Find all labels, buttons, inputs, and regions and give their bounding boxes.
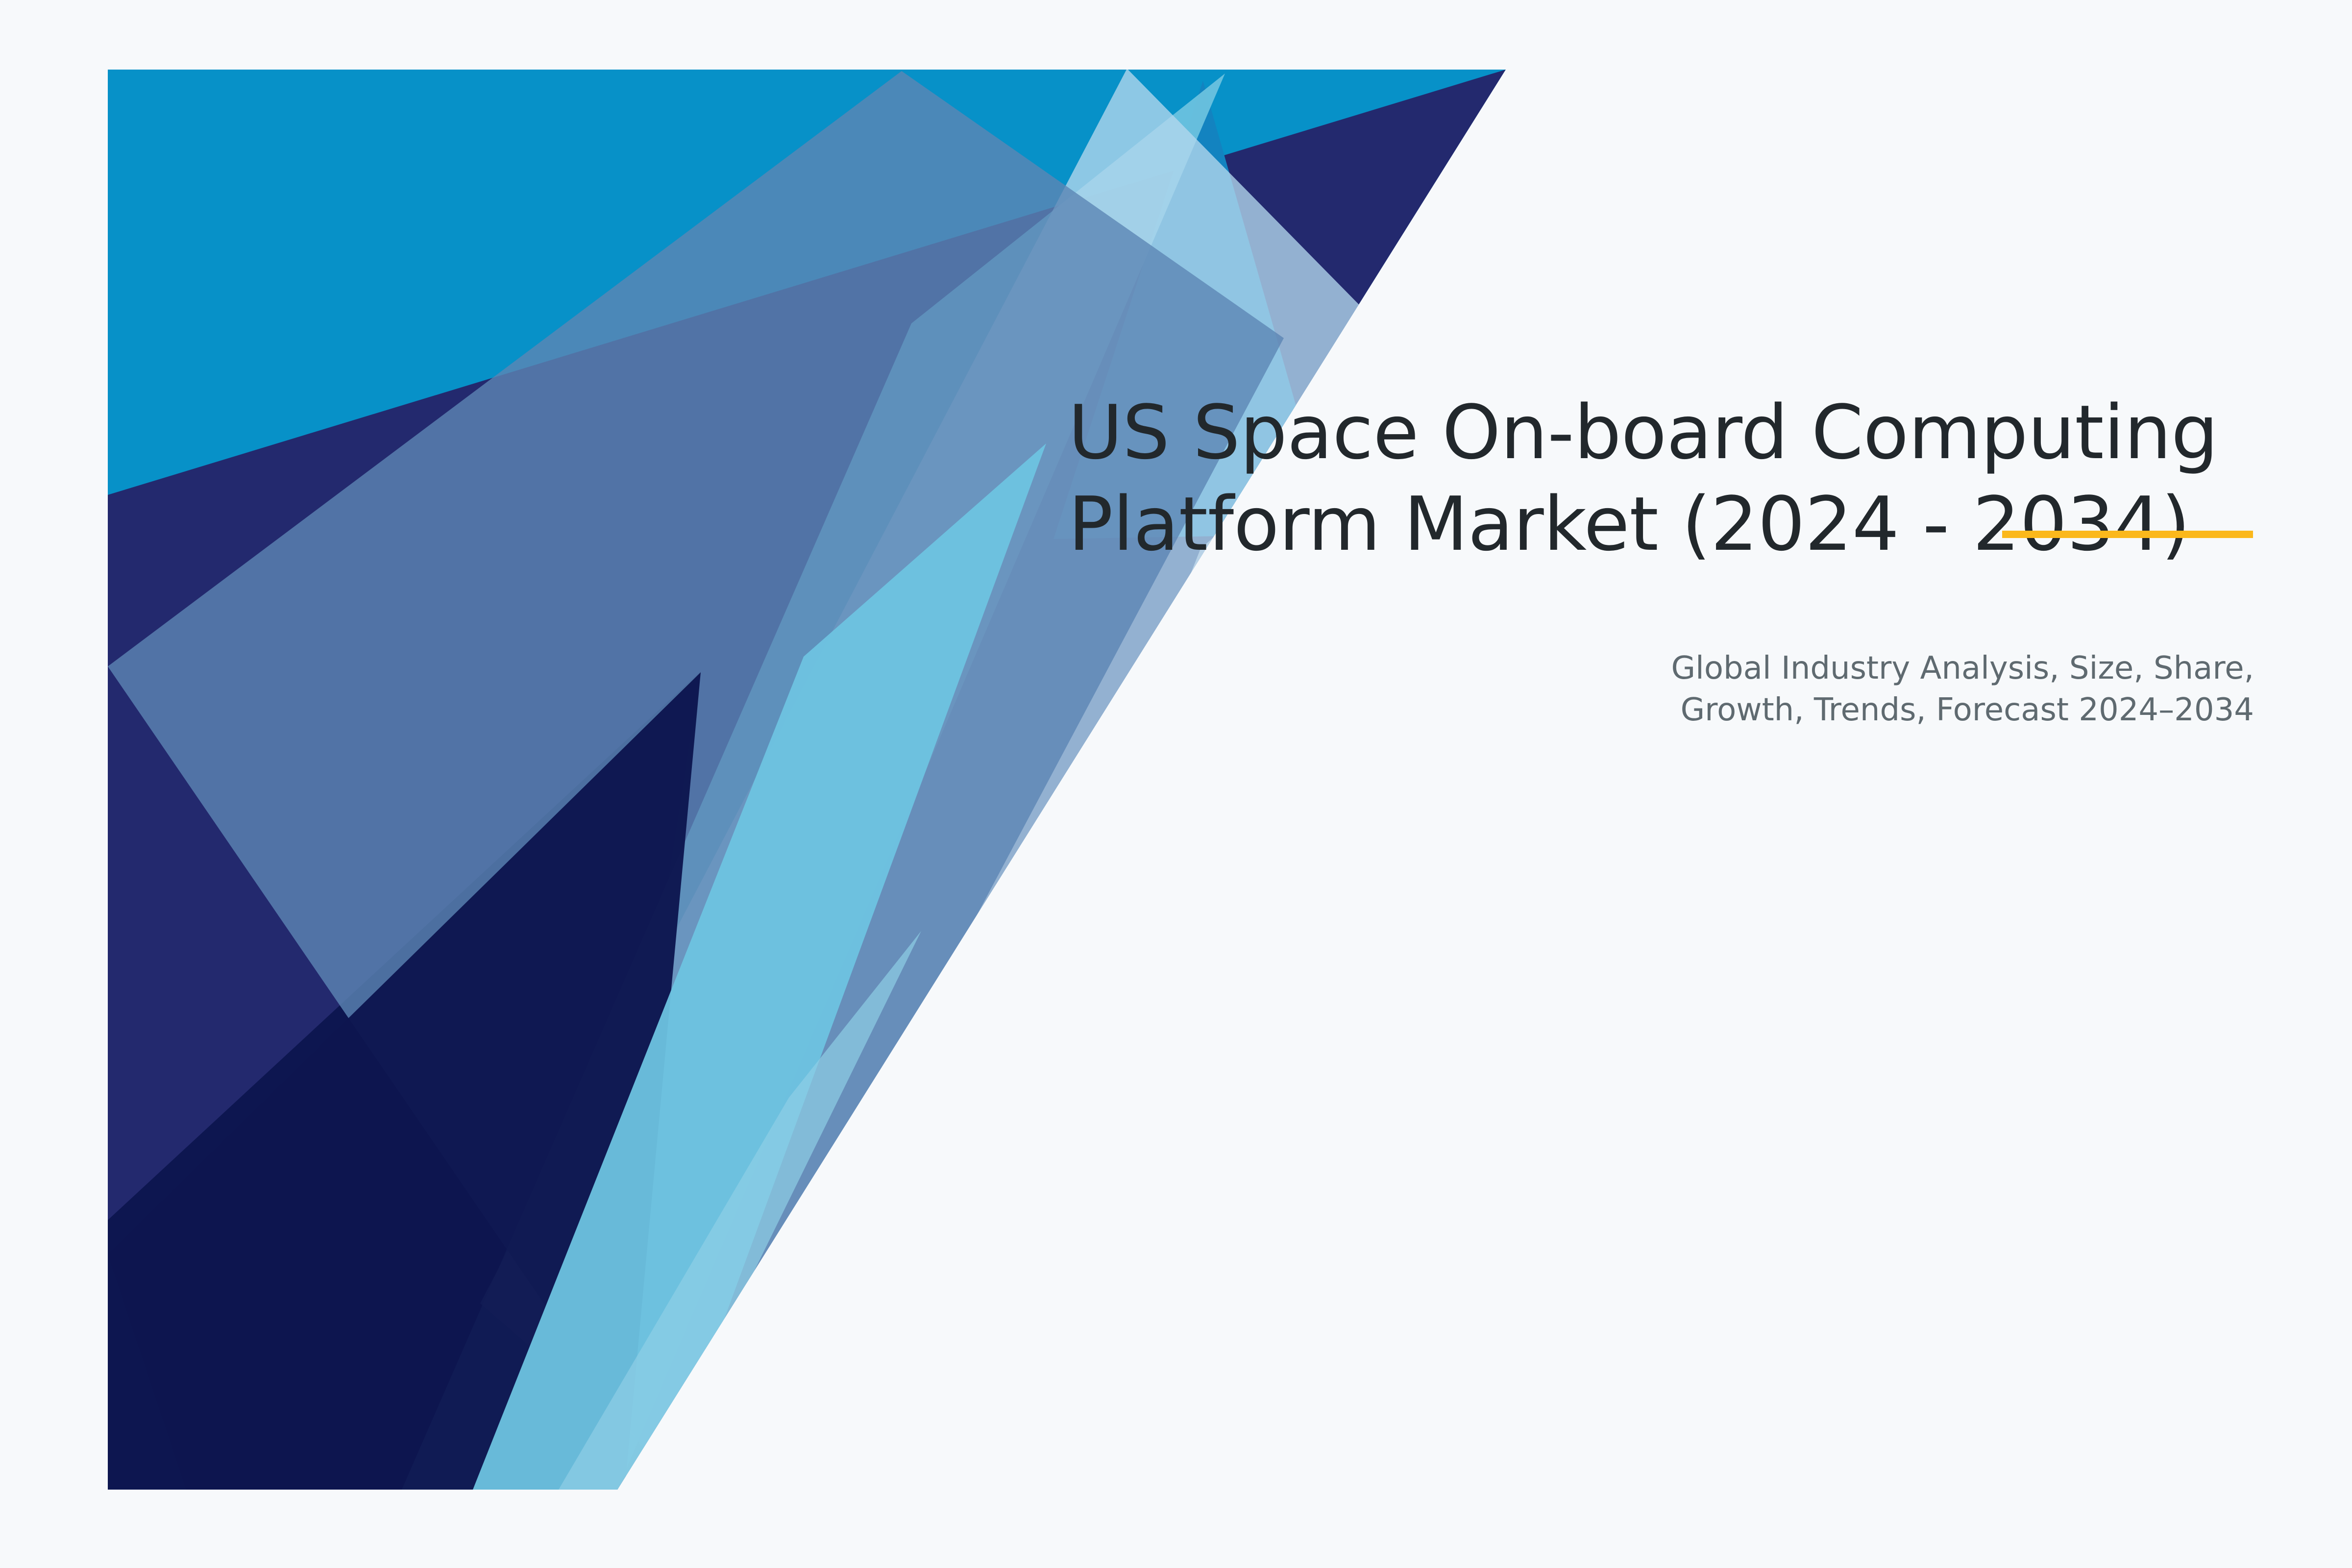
shape-light-sliver bbox=[559, 931, 921, 1490]
shape-pale-blue-wedge bbox=[480, 69, 1411, 1490]
page-subtitle: Global Industry Analysis, Size, Share, G… bbox=[1274, 648, 2254, 731]
shape-sky-blue-band-2 bbox=[473, 443, 1046, 1490]
shape-navy-sweep bbox=[108, 70, 1506, 1490]
artwork-canvas bbox=[0, 0, 2352, 1568]
abstract-geometric-artwork bbox=[0, 0, 2352, 1568]
report-cover-page: US Space On-board Computing Platform Mar… bbox=[0, 0, 2352, 1568]
shape-deep-navy-spike bbox=[108, 671, 701, 1490]
page-title: US Space On-board Computing Platform Mar… bbox=[1068, 387, 2259, 570]
accent-underline bbox=[2002, 531, 2253, 538]
shape-sky-blue-band bbox=[402, 73, 1225, 1490]
shape-foreground-navy-spike bbox=[108, 672, 701, 1490]
shape-slate-blue-overlay bbox=[108, 71, 1284, 1490]
shape-bright-blue-base bbox=[108, 70, 1506, 1490]
title-block: US Space On-board Computing Platform Mar… bbox=[1068, 387, 2259, 570]
